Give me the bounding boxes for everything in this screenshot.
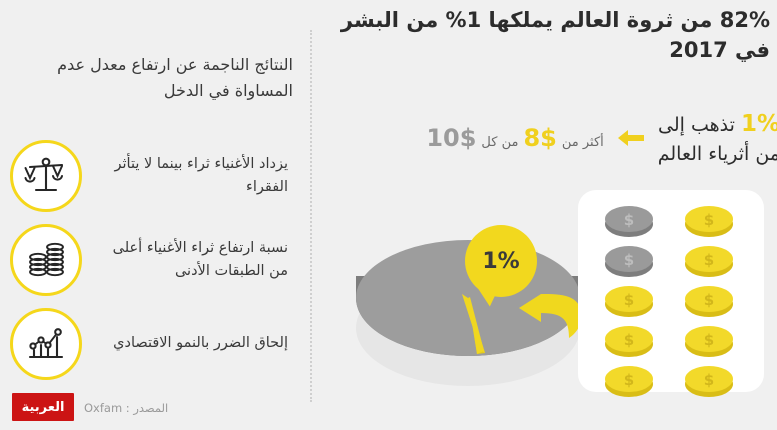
subtitle-more-than-label: أكثر من [562, 133, 604, 153]
svg-text:$: $ [624, 251, 634, 269]
svg-text:$: $ [704, 331, 714, 349]
list-item: إلحاق الضرر بالنمو الاقتصادي [10, 302, 302, 386]
subtitle-percent: 1% [741, 111, 777, 137]
title-line-2: في 2017 [330, 36, 770, 66]
coin-gray: $ [602, 200, 660, 240]
svg-text:$: $ [624, 371, 634, 389]
left-panel-heading: النتائج الناجمة عن ارتفاع معدل عدم المسا… [18, 52, 293, 104]
alarabiya-logo: العربية [12, 393, 74, 421]
coin-gold: $ [602, 280, 660, 320]
list-item-label: إلحاق الضرر بالنمو الاقتصادي [88, 332, 302, 355]
coins-panel: $ $ $ $ [578, 190, 764, 392]
source-label: المصدر : Oxfam [84, 401, 168, 415]
logo-text: العربية [22, 400, 65, 415]
subtitle-amount-10: 10$ [426, 120, 476, 156]
subtitle-goes-to-label: تذهب إلى [658, 114, 735, 136]
coin-gold: $ [602, 320, 660, 360]
vertical-divider [310, 30, 312, 402]
balance-scale-icon [10, 140, 82, 212]
coins-grid: $ $ $ $ [578, 190, 764, 392]
coin-stacks-icon [10, 224, 82, 296]
subtitle-block: 1% تذهب إلى من أثرياء العالم أكثر من 8$ … [340, 108, 777, 168]
pie-callout-bubble: 1% [465, 225, 537, 297]
svg-text:$: $ [624, 291, 634, 309]
list-item: يزداد الأغنياء ثراء بينما لا يتأثر الفقر… [10, 134, 302, 218]
subtitle-left-text: 1% تذهب إلى من أثرياء العالم [658, 108, 777, 168]
subtitle-amount-8: 8$ [523, 120, 556, 156]
coin-gold: $ [602, 360, 660, 400]
svg-text:$: $ [704, 291, 714, 309]
bar-line-chart-icon [10, 308, 82, 380]
coin-gold: $ [682, 240, 740, 280]
svg-text:$: $ [704, 211, 714, 229]
coin-gray: $ [602, 240, 660, 280]
coin-gold: $ [682, 320, 740, 360]
subtitle-right-text: أكثر من 8$ من كل 10$ [426, 120, 603, 156]
subtitle-left-line2: من أثرياء العالم [658, 141, 777, 168]
svg-text:$: $ [704, 251, 714, 269]
arrow-left-icon [616, 127, 646, 149]
page-title: 82% من ثروة العالم يملكها 1% من البشر في… [330, 6, 770, 66]
consequences-list: يزداد الأغنياء ثراء بينما لا يتأثر الفقر… [10, 134, 302, 386]
infographic-canvas: 82% من ثروة العالم يملكها 1% من البشر في… [0, 0, 777, 430]
svg-text:$: $ [624, 211, 634, 229]
title-line-1: 82% من ثروة العالم يملكها 1% من البشر [330, 6, 770, 36]
list-item-label: يزداد الأغنياء ثراء بينما لا يتأثر الفقر… [88, 153, 302, 200]
list-item: نسبة ارتفاع ثراء الأغنياء أعلى من الطبقا… [10, 218, 302, 302]
coin-gold: $ [682, 280, 740, 320]
pie-callout-label: 1% [482, 249, 519, 274]
svg-text:$: $ [704, 371, 714, 389]
coin-gold: $ [682, 360, 740, 400]
svg-text:$: $ [624, 331, 634, 349]
list-item-label: نسبة ارتفاع ثراء الأغنياء أعلى من الطبقا… [88, 237, 302, 284]
coin-gold: $ [682, 200, 740, 240]
subtitle-of-every-label: من كل [481, 133, 518, 153]
